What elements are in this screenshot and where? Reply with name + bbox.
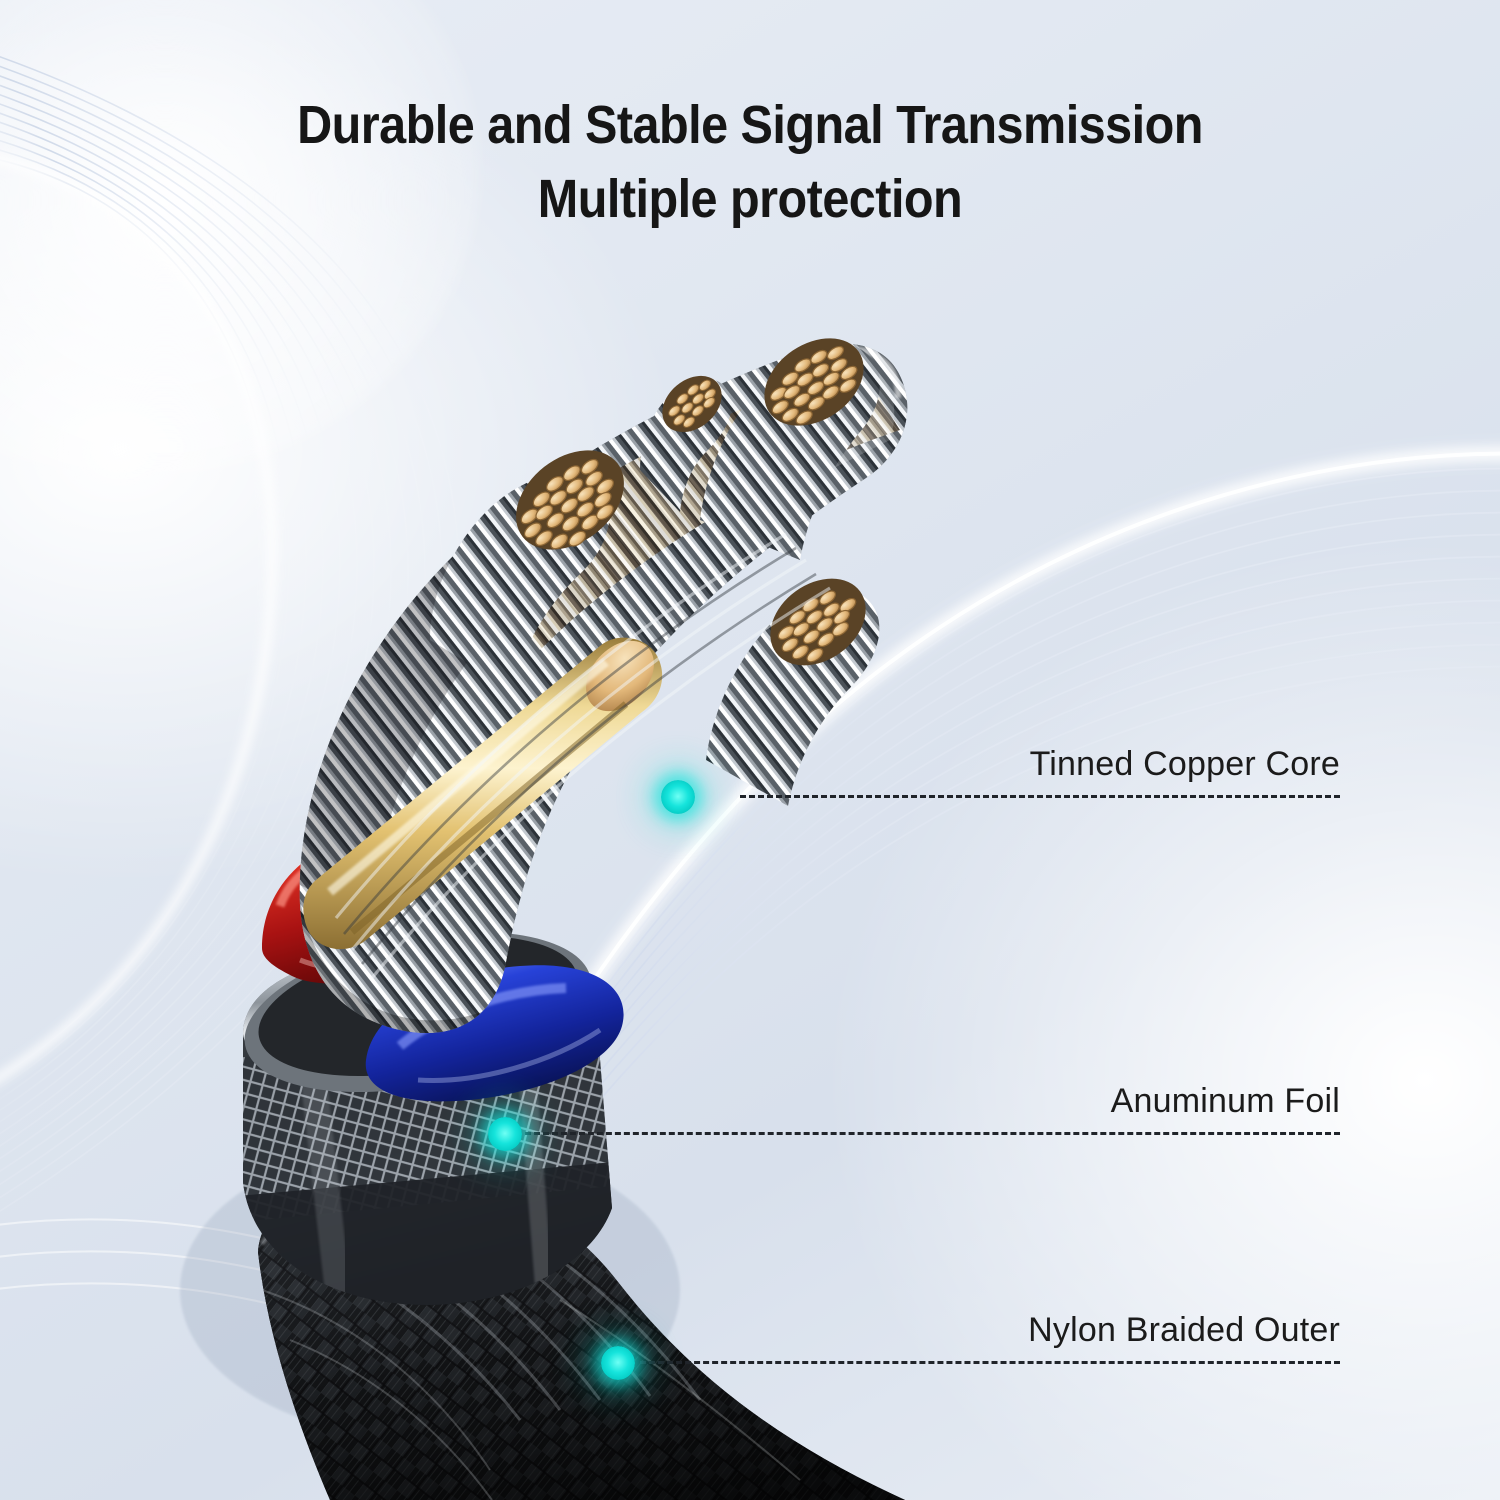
callout-label-anuminum-foil: Anuminum Foil (1111, 1081, 1340, 1121)
copper-strand-bundle-a (700, 320, 880, 560)
headline-block: Durable and Stable Signal Transmission M… (0, 88, 1500, 236)
callout-label-nylon-braided-outer: Nylon Braided Outer (1028, 1310, 1340, 1350)
callout-dashed-line-tinned-copper-core (740, 795, 1340, 798)
infographic-canvas: Durable and Stable Signal Transmission M… (0, 0, 1500, 1500)
marker-dot-tinned-copper-core (661, 780, 695, 814)
marker-dot-anuminum-foil (488, 1117, 522, 1151)
callout-dashed-line-nylon-braided-outer (640, 1361, 1340, 1364)
callout-label-tinned-copper-core: Tinned Copper Core (1030, 744, 1340, 784)
callout-nylon-braided-outer: Nylon Braided Outer (640, 1266, 1340, 1364)
callout-tinned-copper-core: Tinned Copper Core (740, 700, 1340, 798)
callout-dashed-line-anuminum-foil (525, 1132, 1340, 1135)
headline-line-2: Multiple protection (75, 162, 1425, 236)
marker-dot-nylon-braided-outer (601, 1346, 635, 1380)
headline-line-1: Durable and Stable Signal Transmission (75, 88, 1425, 162)
callout-anuminum-foil: Anuminum Foil (525, 1037, 1340, 1135)
